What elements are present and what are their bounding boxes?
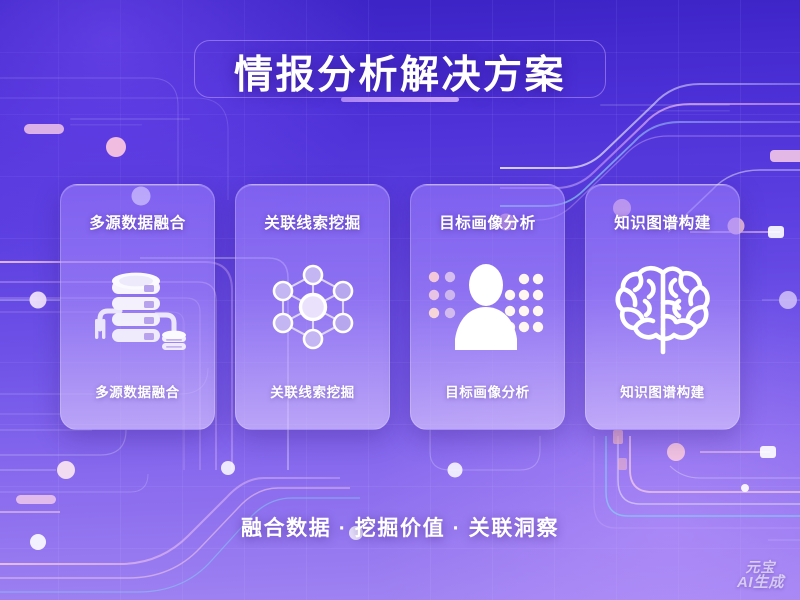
footer-tagline: 融合数据 · 挖掘价值 · 关联洞察 bbox=[0, 512, 800, 542]
brain-icon bbox=[609, 257, 717, 357]
card-icon-wrap bbox=[236, 233, 389, 381]
person-profile-icon bbox=[426, 257, 550, 357]
watermark-brand: 元宝 bbox=[737, 560, 784, 574]
feature-card-row: 多源数据融合 bbox=[0, 184, 800, 430]
card-icon-wrap bbox=[586, 233, 739, 381]
page-title: 情报分析解决方案 bbox=[0, 44, 800, 100]
card-icon-wrap bbox=[61, 233, 214, 381]
title-underline bbox=[341, 97, 459, 102]
feature-card-multi-source-fusion[interactable]: 多源数据融合 bbox=[60, 184, 215, 430]
feature-card-knowledge-graph[interactable]: 知识图谱构建 bbox=[585, 184, 740, 430]
card-title: 关联线索挖掘 bbox=[264, 211, 361, 233]
database-stack-icon bbox=[86, 257, 190, 357]
feature-card-clue-mining[interactable]: 关联线索挖掘 bbox=[235, 184, 390, 430]
poster-canvas: 情报分析解决方案 多源数据融合 bbox=[0, 0, 800, 600]
card-icon-wrap bbox=[411, 233, 564, 381]
card-title: 目标画像分析 bbox=[439, 211, 536, 233]
dot-grid-left bbox=[428, 272, 454, 318]
card-label: 知识图谱构建 bbox=[620, 381, 705, 401]
watermark: 元宝 AI生成 bbox=[737, 560, 784, 590]
feature-card-target-profiling[interactable]: 目标画像分析 bbox=[410, 184, 565, 430]
card-label: 多源数据融合 bbox=[95, 381, 180, 401]
card-title: 多源数据融合 bbox=[89, 211, 186, 233]
card-label: 关联线索挖掘 bbox=[270, 381, 355, 401]
card-label: 目标画像分析 bbox=[445, 381, 530, 401]
watermark-ai-label: AI生成 bbox=[737, 575, 784, 590]
network-graph-icon bbox=[261, 257, 365, 357]
card-title: 知识图谱构建 bbox=[614, 211, 711, 233]
